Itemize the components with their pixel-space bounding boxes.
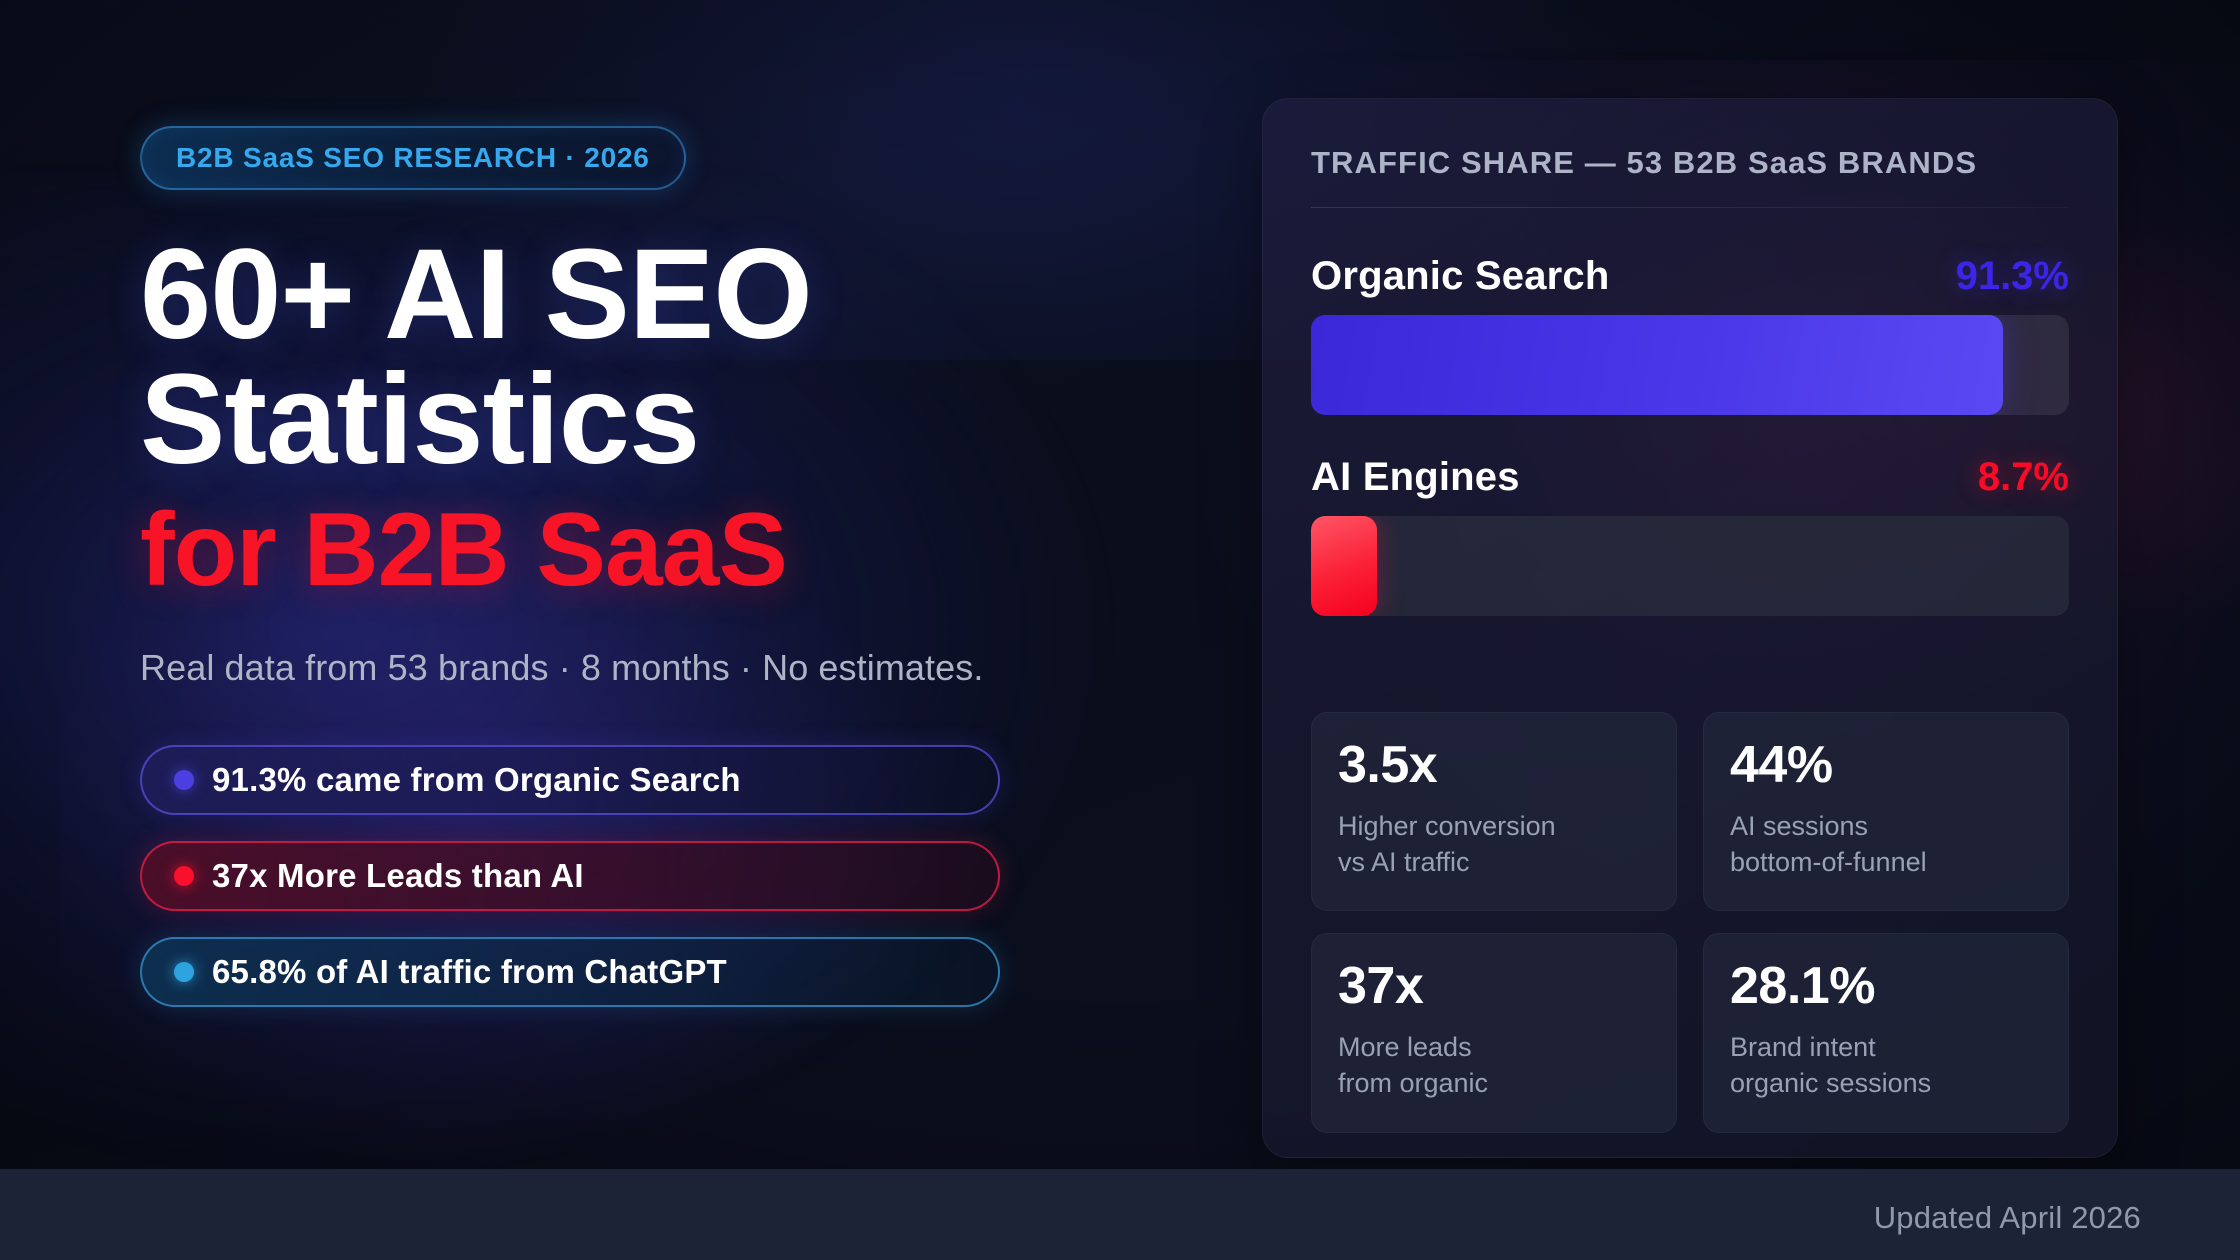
headline-line-1: 60+ AI SEO <box>140 232 1200 357</box>
bar-chart: Organic Search 91.3% AI Engines 8.7% <box>1311 254 2069 616</box>
footer-updated-label: Updated April 2026 <box>1874 1200 2141 1236</box>
stat-card-label-line-2: from organic <box>1338 1066 1650 1102</box>
subtitle: Real data from 53 brands · 8 months · No… <box>140 647 1200 689</box>
list-item-label: 37x More Leads than AI <box>212 857 584 895</box>
panel-title: TRAFFIC SHARE — 53 B2B SaaS BRANDS <box>1311 145 2069 181</box>
bar-spacer <box>1311 427 2069 455</box>
bar-row-organic-search: Organic Search 91.3% <box>1311 254 2069 415</box>
highlight-list: 91.3% came from Organic Search 37x More … <box>140 745 1200 1007</box>
bar-label: AI Engines <box>1311 455 1520 500</box>
stat-card-label: More leads from organic <box>1338 1030 1650 1101</box>
stat-card-label: Higher conversion vs AI traffic <box>1338 809 1650 880</box>
infographic-canvas: B2B SaaS SEO RESEARCH · 2026 60+ AI SEO … <box>0 0 2240 1260</box>
list-item[interactable]: 37x More Leads than AI <box>140 841 1000 911</box>
bullet-dot-icon <box>174 866 194 886</box>
headline-accent-line: for B2B SaaS <box>140 497 1200 603</box>
stat-card-label: AI sessions bottom-of-funnel <box>1730 809 2042 880</box>
stat-card-label-line-1: Higher conversion <box>1338 809 1650 845</box>
stat-card-label-line-1: AI sessions <box>1730 809 2042 845</box>
stat-card-label-line-1: Brand intent <box>1730 1030 2042 1066</box>
stat-card-label: Brand intent organic sessions <box>1730 1030 2042 1101</box>
list-item-label: 91.3% came from Organic Search <box>212 761 741 799</box>
stat-card-value: 37x <box>1338 960 1650 1012</box>
bullet-dot-icon <box>174 770 194 790</box>
stat-card-label-line-1: More leads <box>1338 1030 1650 1066</box>
eyebrow-badge: B2B SaaS SEO RESEARCH · 2026 <box>140 126 686 190</box>
bar-label: Organic Search <box>1311 254 1609 299</box>
stat-card-value: 44% <box>1730 739 2042 791</box>
list-item[interactable]: 91.3% came from Organic Search <box>140 745 1000 815</box>
traffic-share-panel: TRAFFIC SHARE — 53 B2B SaaS BRANDS Organ… <box>1262 98 2118 1158</box>
stat-card: 44% AI sessions bottom-of-funnel <box>1703 712 2069 911</box>
stat-card-value: 3.5x <box>1338 739 1650 791</box>
bar-value: 91.3% <box>1956 254 2069 299</box>
page-title: 60+ AI SEO Statistics for B2B SaaS <box>140 232 1200 603</box>
stat-card-value: 28.1% <box>1730 960 2042 1012</box>
bar-fill <box>1311 315 2003 415</box>
stat-card-label-line-2: bottom-of-funnel <box>1730 845 2042 881</box>
list-item-label: 65.8% of AI traffic from ChatGPT <box>212 953 727 991</box>
bar-header: Organic Search 91.3% <box>1311 254 2069 299</box>
stat-card-grid: 3.5x Higher conversion vs AI traffic 44%… <box>1311 712 2069 1133</box>
bar-track <box>1311 315 2069 415</box>
stat-card-label-line-2: vs AI traffic <box>1338 845 1650 881</box>
bar-value: 8.7% <box>1978 455 2069 500</box>
list-item[interactable]: 65.8% of AI traffic from ChatGPT <box>140 937 1000 1007</box>
stat-card-label-line-2: organic sessions <box>1730 1066 2042 1102</box>
bar-fill <box>1311 516 1377 616</box>
bar-track <box>1311 516 2069 616</box>
eyebrow-label: B2B SaaS SEO RESEARCH · 2026 <box>176 142 650 174</box>
stat-card: 28.1% Brand intent organic sessions <box>1703 933 2069 1132</box>
stat-card: 3.5x Higher conversion vs AI traffic <box>1311 712 1677 911</box>
bullet-dot-icon <box>174 962 194 982</box>
panel-divider <box>1311 207 2069 208</box>
hero-content: B2B SaaS SEO RESEARCH · 2026 60+ AI SEO … <box>140 126 1200 1007</box>
headline-line-2: Statistics <box>140 357 1200 482</box>
bar-header: AI Engines 8.7% <box>1311 455 2069 500</box>
stat-card: 37x More leads from organic <box>1311 933 1677 1132</box>
bar-row-ai-engines: AI Engines 8.7% <box>1311 455 2069 616</box>
